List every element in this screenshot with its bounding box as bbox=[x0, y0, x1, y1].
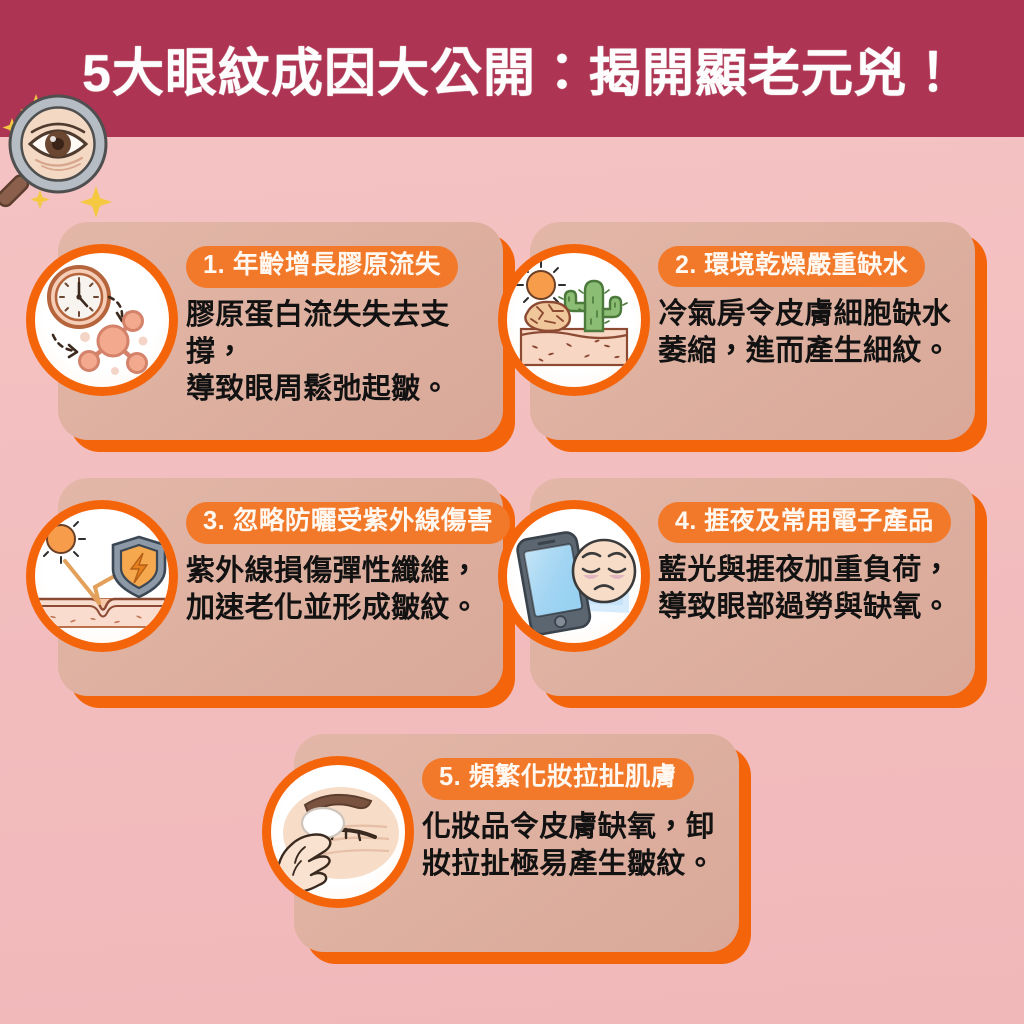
card-description: 藍光與捱夜加重負荷， 導致眼部過勞與缺氧。 bbox=[658, 552, 958, 626]
card-text: 5. 頻繁化妝拉扯肌膚 化妝品令皮膚缺氧，卸 妝拉扯極易產生皺紋。 bbox=[422, 758, 722, 883]
cause-card-1[interactable]: 1. 年齡增長膠原流失 膠原蛋白流失失去支撐， 導致眼周鬆弛起皺。 bbox=[58, 222, 503, 440]
hand-cotton-pad-eye-icon bbox=[262, 756, 414, 908]
card-title: 1. 年齡增長膠原流失 bbox=[186, 246, 458, 288]
desert-sun-cactus-icon bbox=[498, 244, 650, 396]
card-text: 4. 捱夜及常用電子產品 藍光與捱夜加重負荷， 導致眼部過勞與缺氧。 bbox=[658, 502, 958, 626]
cause-card-3[interactable]: 3. 忽略防曬受紫外線傷害 紫外線損傷彈性纖維， 加速老化並形成皺紋。 bbox=[58, 478, 503, 696]
cause-card-5[interactable]: 5. 頻繁化妝拉扯肌膚 化妝品令皮膚缺氧，卸 妝拉扯極易產生皺紋。 bbox=[294, 734, 739, 952]
cause-card-4[interactable]: 4. 捱夜及常用電子產品 藍光與捱夜加重負荷， 導致眼部過勞與缺氧。 bbox=[530, 478, 975, 696]
card-title: 3. 忽略防曬受紫外線傷害 bbox=[186, 502, 510, 544]
page-title: 5大眼紋成因大公開：揭開顯老元兇！ bbox=[0, 0, 1024, 137]
card-title: 5. 頻繁化妝拉扯肌膚 bbox=[422, 758, 694, 800]
card-description: 紫外線損傷彈性纖維， 加速老化並形成皺紋。 bbox=[186, 553, 486, 627]
card-text: 1. 年齡增長膠原流失 膠原蛋白流失失去支撐， 導致眼周鬆弛起皺。 bbox=[186, 246, 486, 408]
smartphone-bluelight-tired-face-icon bbox=[498, 500, 650, 652]
magnifier-eye-icon bbox=[0, 78, 132, 218]
card-text: 3. 忽略防曬受紫外線傷害 紫外線損傷彈性纖維， 加速老化並形成皺紋。 bbox=[186, 502, 486, 627]
cause-card-2[interactable]: 2. 環境乾燥嚴重缺水 冷氣房令皮膚細胞缺水 萎縮，進而產生細紋。 bbox=[530, 222, 975, 440]
card-description: 膠原蛋白流失失去支撐， 導致眼周鬆弛起皺。 bbox=[186, 297, 486, 408]
card-text: 2. 環境乾燥嚴重缺水 冷氣房令皮膚細胞缺水 萎縮，進而產生細紋。 bbox=[658, 246, 958, 370]
infographic-poster: 5大眼紋成因大公開：揭開顯老元兇！ bbox=[0, 0, 1024, 1024]
card-description: 化妝品令皮膚缺氧，卸 妝拉扯極易產生皺紋。 bbox=[422, 809, 722, 883]
card-title: 4. 捱夜及常用電子產品 bbox=[658, 502, 951, 543]
card-description: 冷氣房令皮膚細胞缺水 萎縮，進而產生細紋。 bbox=[658, 296, 958, 370]
sun-uv-shield-skin-icon bbox=[26, 500, 178, 652]
clock-collagen-molecule-icon bbox=[26, 244, 178, 396]
card-title: 2. 環境乾燥嚴重缺水 bbox=[658, 246, 925, 287]
